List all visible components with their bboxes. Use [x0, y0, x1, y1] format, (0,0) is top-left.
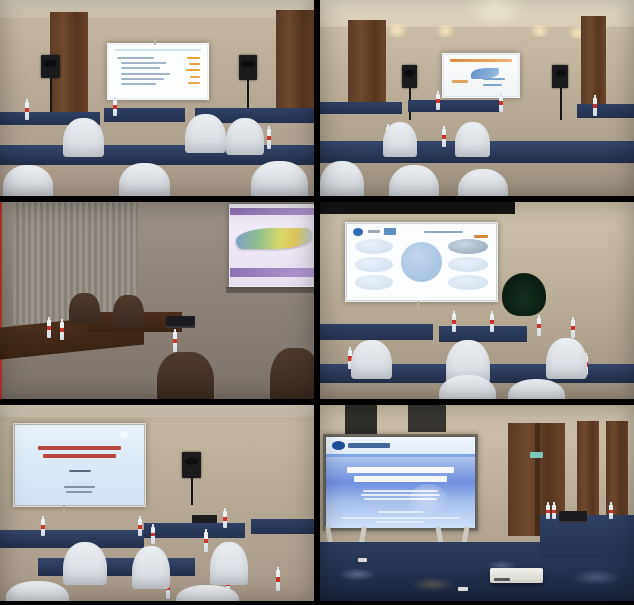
water-bottle — [546, 505, 550, 519]
leather-chair — [69, 293, 100, 325]
water-bottle — [276, 570, 280, 592]
slide-logo-glow — [116, 431, 132, 439]
projector-screen — [345, 222, 498, 303]
water-bottle — [552, 505, 556, 519]
screen-mount — [417, 301, 419, 311]
photo-panel-bottom-left — [0, 405, 314, 601]
university-name — [348, 443, 390, 448]
banquet-chair — [119, 163, 169, 196]
photo-panel-bottom-right — [320, 405, 634, 601]
audience-table — [320, 324, 433, 340]
water-bottle — [490, 314, 494, 332]
slide-footer-line — [377, 521, 425, 523]
leather-chair — [113, 295, 144, 328]
water-bottle — [499, 96, 503, 112]
presenter-table — [540, 515, 634, 558]
institution-logo — [368, 230, 380, 233]
screen-tripod-leg — [63, 505, 65, 525]
slide-oval-image — [448, 239, 488, 254]
slide-cfd-aircraft — [230, 205, 314, 286]
banquet-chair — [546, 338, 587, 379]
slide-author-line — [69, 470, 91, 472]
water-bottle — [138, 519, 142, 537]
speaker-on-stand — [182, 452, 201, 477]
banquet-chair — [439, 375, 496, 399]
slide-main-title — [338, 467, 463, 482]
water-bottle — [436, 94, 440, 110]
ceiling — [0, 0, 314, 18]
speaker-stand — [191, 478, 193, 505]
wood-panel — [581, 16, 606, 106]
speaker-stand-left — [50, 78, 52, 113]
screen-shadow — [226, 287, 314, 293]
ceiling — [0, 405, 314, 417]
title-line-2 — [354, 476, 446, 482]
laptop — [559, 511, 587, 521]
cfd-aircraft-graphic — [236, 228, 313, 249]
slide-footer-band — [230, 268, 314, 277]
water-bottle — [151, 527, 155, 545]
tripod-projection-screen — [13, 423, 147, 507]
projector-screen — [107, 43, 209, 100]
laptop — [166, 316, 194, 326]
speaker-stand-right — [560, 88, 562, 119]
slide-oval-image — [355, 275, 394, 290]
floor-item — [358, 558, 367, 562]
water-bottle — [442, 129, 446, 147]
institution-logo — [353, 228, 363, 236]
slide-oval-image — [355, 257, 394, 272]
speaker-stack-right — [239, 55, 258, 80]
water-bottle — [25, 102, 29, 120]
speaker-stack-left — [402, 65, 418, 89]
slide-header-band — [326, 437, 475, 457]
institution-logo — [384, 228, 396, 235]
water-bottle — [537, 318, 541, 336]
photo-panel-top-right — [320, 0, 634, 196]
banquet-chair — [176, 585, 239, 601]
water-bottle — [593, 98, 597, 116]
banquet-chair — [185, 114, 226, 153]
tripod-projection-screen — [323, 434, 478, 530]
ceiling-recess — [408, 405, 446, 432]
head-table — [144, 523, 244, 539]
water-bottle — [41, 519, 45, 537]
water-bottle — [452, 314, 456, 332]
slide-oval-image — [448, 257, 488, 272]
screen-mount — [154, 37, 156, 45]
water-bottle — [47, 320, 51, 338]
slide-text-block — [483, 84, 502, 86]
slide-text-block — [483, 78, 505, 80]
ceiling-light — [383, 24, 411, 38]
leather-chair — [270, 348, 314, 399]
audience-table — [320, 102, 402, 114]
banquet-chair — [226, 118, 264, 155]
banquet-chair — [132, 546, 170, 589]
floor-projector — [490, 568, 543, 584]
slide-affiliation-line — [378, 511, 423, 513]
wood-door-right — [276, 10, 314, 124]
university-crest — [332, 441, 345, 450]
water-bottle — [60, 322, 64, 340]
photo-panel-top-left — [0, 0, 314, 196]
header-accent-strip — [326, 454, 475, 457]
title-line-1 — [347, 467, 454, 473]
slide-aerospace-overview — [347, 224, 496, 301]
ceiling-bulkhead — [320, 202, 515, 214]
slide-oval-image — [448, 275, 488, 290]
projection-screen — [229, 204, 314, 287]
leather-chair — [157, 352, 214, 399]
speaker-stack-left — [41, 55, 60, 79]
side-table — [251, 519, 314, 535]
slide-title-line — [424, 231, 463, 233]
water-bottle — [571, 320, 575, 338]
document-header-bar — [115, 49, 202, 52]
slide-oval-image — [355, 239, 394, 254]
slide-text-block — [452, 80, 468, 82]
slide-author-block — [359, 490, 442, 500]
banquet-chair — [455, 122, 490, 157]
slide-title-line-2 — [43, 454, 116, 458]
photo-panel-middle-left — [0, 202, 314, 399]
slide-heading-band — [450, 59, 512, 62]
slide-center-circle — [401, 242, 443, 282]
water-bottle — [223, 511, 227, 529]
banquet-chair — [351, 340, 392, 379]
potted-plant — [502, 273, 546, 316]
projector-screen — [442, 53, 519, 98]
slide-title-line-1 — [38, 446, 121, 450]
image-edge-artifact — [0, 202, 2, 399]
exit-sign — [530, 452, 543, 458]
slide-header-band — [230, 208, 314, 215]
water-bottle — [173, 332, 177, 352]
slide-document — [109, 45, 207, 98]
audience-table — [408, 100, 502, 112]
slide-accent-label — [474, 235, 489, 237]
floor-item — [458, 587, 467, 591]
audience-table — [577, 104, 634, 118]
banquet-chair — [63, 542, 107, 585]
photo-collage — [0, 0, 634, 605]
water-bottle — [113, 100, 117, 116]
wood-door — [348, 20, 386, 102]
slide-aero-intro — [444, 55, 517, 96]
slide-affiliation-line — [64, 486, 95, 488]
banquet-chair — [210, 542, 248, 585]
photo-panel-middle-right — [320, 202, 634, 399]
banquet-chair — [63, 118, 104, 157]
slide-footer-line — [341, 517, 460, 519]
audience-table — [38, 558, 195, 576]
banquet-chair — [251, 161, 308, 196]
speaker-stack-right — [552, 65, 568, 89]
slide-title-blue — [15, 425, 145, 505]
water-bottle — [609, 505, 613, 519]
water-bottle — [204, 532, 208, 552]
water-bottle — [267, 129, 271, 149]
slide-affiliation-line — [66, 491, 92, 493]
slide-rocket-title — [326, 437, 475, 527]
